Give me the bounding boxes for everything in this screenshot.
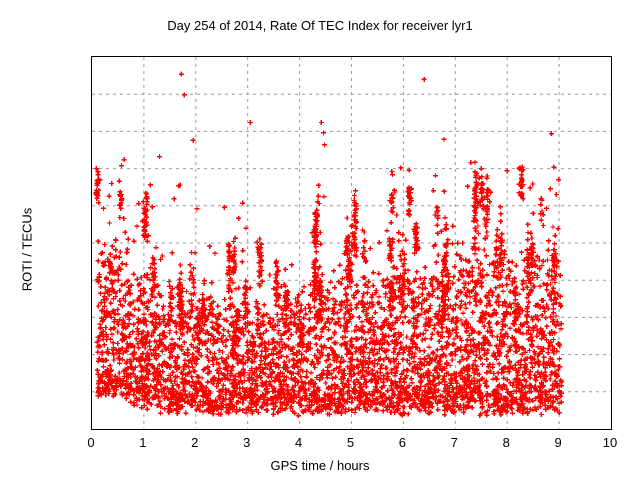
scatter-series-roti	[92, 57, 611, 429]
x-tick-label: 8	[486, 435, 526, 450]
x-tick-label: 0	[71, 435, 111, 450]
x-tick-label: 5	[331, 435, 371, 450]
x-tick-label: 7	[434, 435, 474, 450]
chart-title: Day 254 of 2014, Rate Of TEC Index for r…	[0, 18, 640, 33]
plot-area	[91, 56, 612, 430]
x-tick-label: 6	[382, 435, 422, 450]
x-tick-label: 4	[279, 435, 319, 450]
x-tick-label: 9	[538, 435, 578, 450]
y-axis-label: ROTI / TECUs	[20, 170, 35, 330]
x-tick-label: 1	[123, 435, 163, 450]
x-axis-label: GPS time / hours	[0, 458, 640, 473]
chart-screenshot: Day 254 of 2014, Rate Of TEC Index for r…	[0, 0, 640, 480]
x-tick-label: 10	[590, 435, 630, 450]
x-tick-label: 2	[175, 435, 215, 450]
x-tick-label: 3	[227, 435, 267, 450]
